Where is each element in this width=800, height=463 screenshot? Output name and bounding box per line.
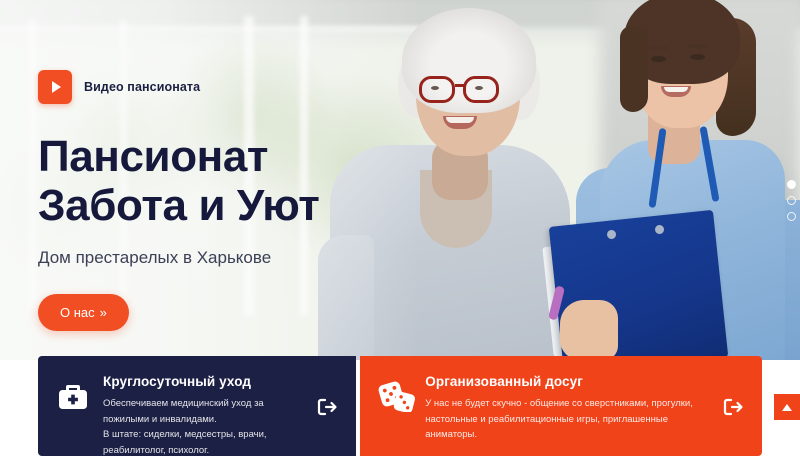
page-title-line-2: Забота и Уют [38, 181, 378, 230]
card-description: У нас не будет скучно - общение со сверс… [425, 396, 712, 443]
feature-cards: Круглосуточный уход Обеспечиваем медицин… [38, 356, 762, 456]
nurse-eye-right [690, 54, 705, 60]
arrow-right-from-bracket-icon[interactable] [314, 394, 340, 420]
card-description-line-2: В штате: сиделки, медсестры, врачи, реаб… [103, 427, 306, 456]
card-title: Круглосуточный уход [103, 374, 306, 389]
card-description-line-2: настольные и реабилитационные игры, приг… [425, 412, 712, 428]
eyeglasses-bridge [455, 84, 465, 87]
slider-pagination [787, 180, 796, 221]
medical-bag-icon [56, 380, 90, 417]
nurse-teeth [664, 87, 688, 92]
play-icon[interactable] [38, 70, 72, 104]
chevron-double-right-icon: » [100, 305, 107, 320]
hero-content: Видео пансионата Пансионат Забота и Уют … [38, 70, 378, 331]
elderly-woman-teeth [446, 117, 474, 123]
slider-dot-1[interactable] [787, 180, 796, 189]
video-link-label: Видео пансионата [84, 80, 200, 94]
card-text-block: Круглосуточный уход Обеспечиваем медицин… [103, 374, 306, 456]
nurse-hair-front [620, 26, 648, 112]
card-organized-leisure[interactable]: Организованный досуг У нас не будет скуч… [360, 356, 762, 456]
page-subtitle: Дом престарелых в Харькове [38, 248, 378, 268]
eyeglasses-lens-right [463, 76, 499, 103]
slider-dot-2[interactable] [787, 196, 796, 205]
page-title-line-1: Пансионат [38, 132, 268, 181]
eyeglasses-lens-left [419, 76, 455, 103]
about-button[interactable]: О нас » [38, 294, 129, 331]
nurse-hand [560, 300, 618, 360]
card-title: Организованный досуг [425, 374, 712, 389]
video-link[interactable]: Видео пансионата [38, 70, 378, 104]
card-description: Обеспечиваем медицинский уход за пожилым… [103, 396, 306, 456]
slider-dot-3[interactable] [787, 212, 796, 221]
card-text-block: Организованный досуг У нас не будет скуч… [425, 374, 712, 443]
dice-icon [378, 380, 412, 417]
card-description-line-3: аниматоры. [425, 427, 712, 443]
card-description-line-1: У нас не будет скучно - общение со сверс… [425, 396, 712, 412]
nurse-eye-left [651, 56, 666, 62]
page-title: Пансионат Забота и Уют [38, 132, 378, 231]
page-bottom-strip [0, 455, 800, 463]
arrow-right-from-bracket-icon[interactable] [720, 394, 746, 420]
chevron-up-icon [782, 404, 792, 411]
scroll-to-top-button[interactable] [774, 394, 800, 420]
nurse-eyebrow-left [648, 46, 668, 50]
about-button-label: О нас [60, 305, 95, 320]
landing-page: Видео пансионата Пансионат Забота и Уют … [0, 0, 800, 463]
card-description-line-1: Обеспечиваем медицинский уход за пожилым… [103, 396, 306, 427]
play-triangle [52, 81, 61, 93]
nurse-eyebrow-right [687, 44, 707, 48]
card-round-the-clock-care[interactable]: Круглосуточный уход Обеспечиваем медицин… [38, 356, 356, 456]
